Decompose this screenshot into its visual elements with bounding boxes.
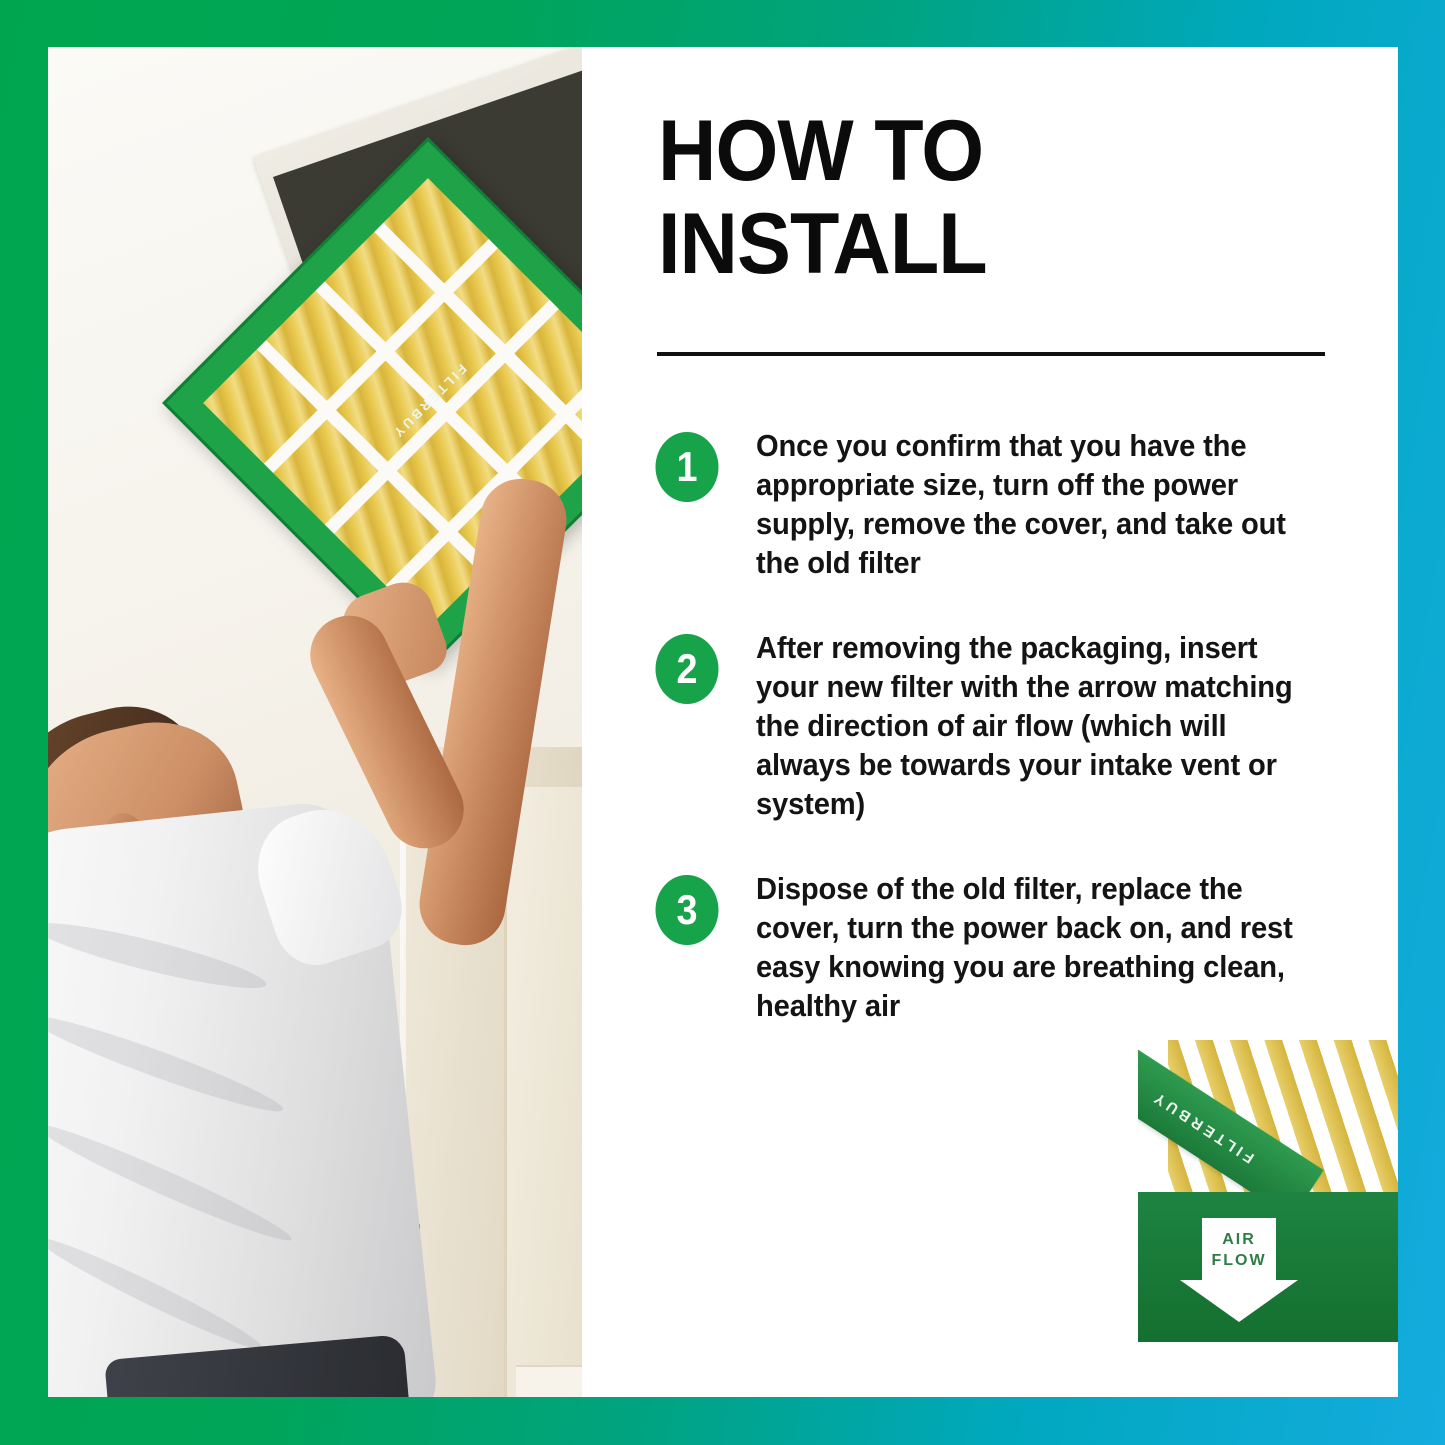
steps-list: 1 Once you confirm that you have the app…: [652, 427, 1352, 1072]
step-item-2: 2 After removing the packaging, insert y…: [652, 629, 1352, 824]
step-number-badge: 3: [656, 875, 719, 945]
step-number-badge: 1: [656, 432, 719, 502]
air-flow-arrow-icon: AIR FLOW: [1180, 1218, 1298, 1322]
page-title: HOW TO INSTALL: [658, 105, 1316, 291]
door-panel: [504, 787, 582, 1397]
how-to-install-infographic: FILTERBUY HOW TO INSTALL 1 Once you conf…: [0, 0, 1445, 1445]
step-item-3: 3 Dispose of the old filter, replace the…: [652, 870, 1352, 1026]
step-text: Dispose of the old filter, replace the c…: [756, 870, 1325, 1026]
product-frame-face: AIR FLOW: [1138, 1192, 1398, 1342]
step-item-1: 1 Once you confirm that you have the app…: [652, 427, 1352, 583]
title-divider: [657, 352, 1325, 356]
air-flow-label: AIR FLOW: [1180, 1229, 1298, 1271]
step-text: After removing the packaging, insert you…: [756, 629, 1325, 824]
step-number-badge: 2: [656, 634, 719, 704]
product-filter-image: FILTERBUY AIR FLOW: [1138, 1040, 1398, 1360]
baseboard-vent: [516, 1365, 582, 1397]
step-text: Once you confirm that you have the appro…: [756, 427, 1325, 583]
installation-photo: FILTERBUY: [48, 47, 582, 1397]
